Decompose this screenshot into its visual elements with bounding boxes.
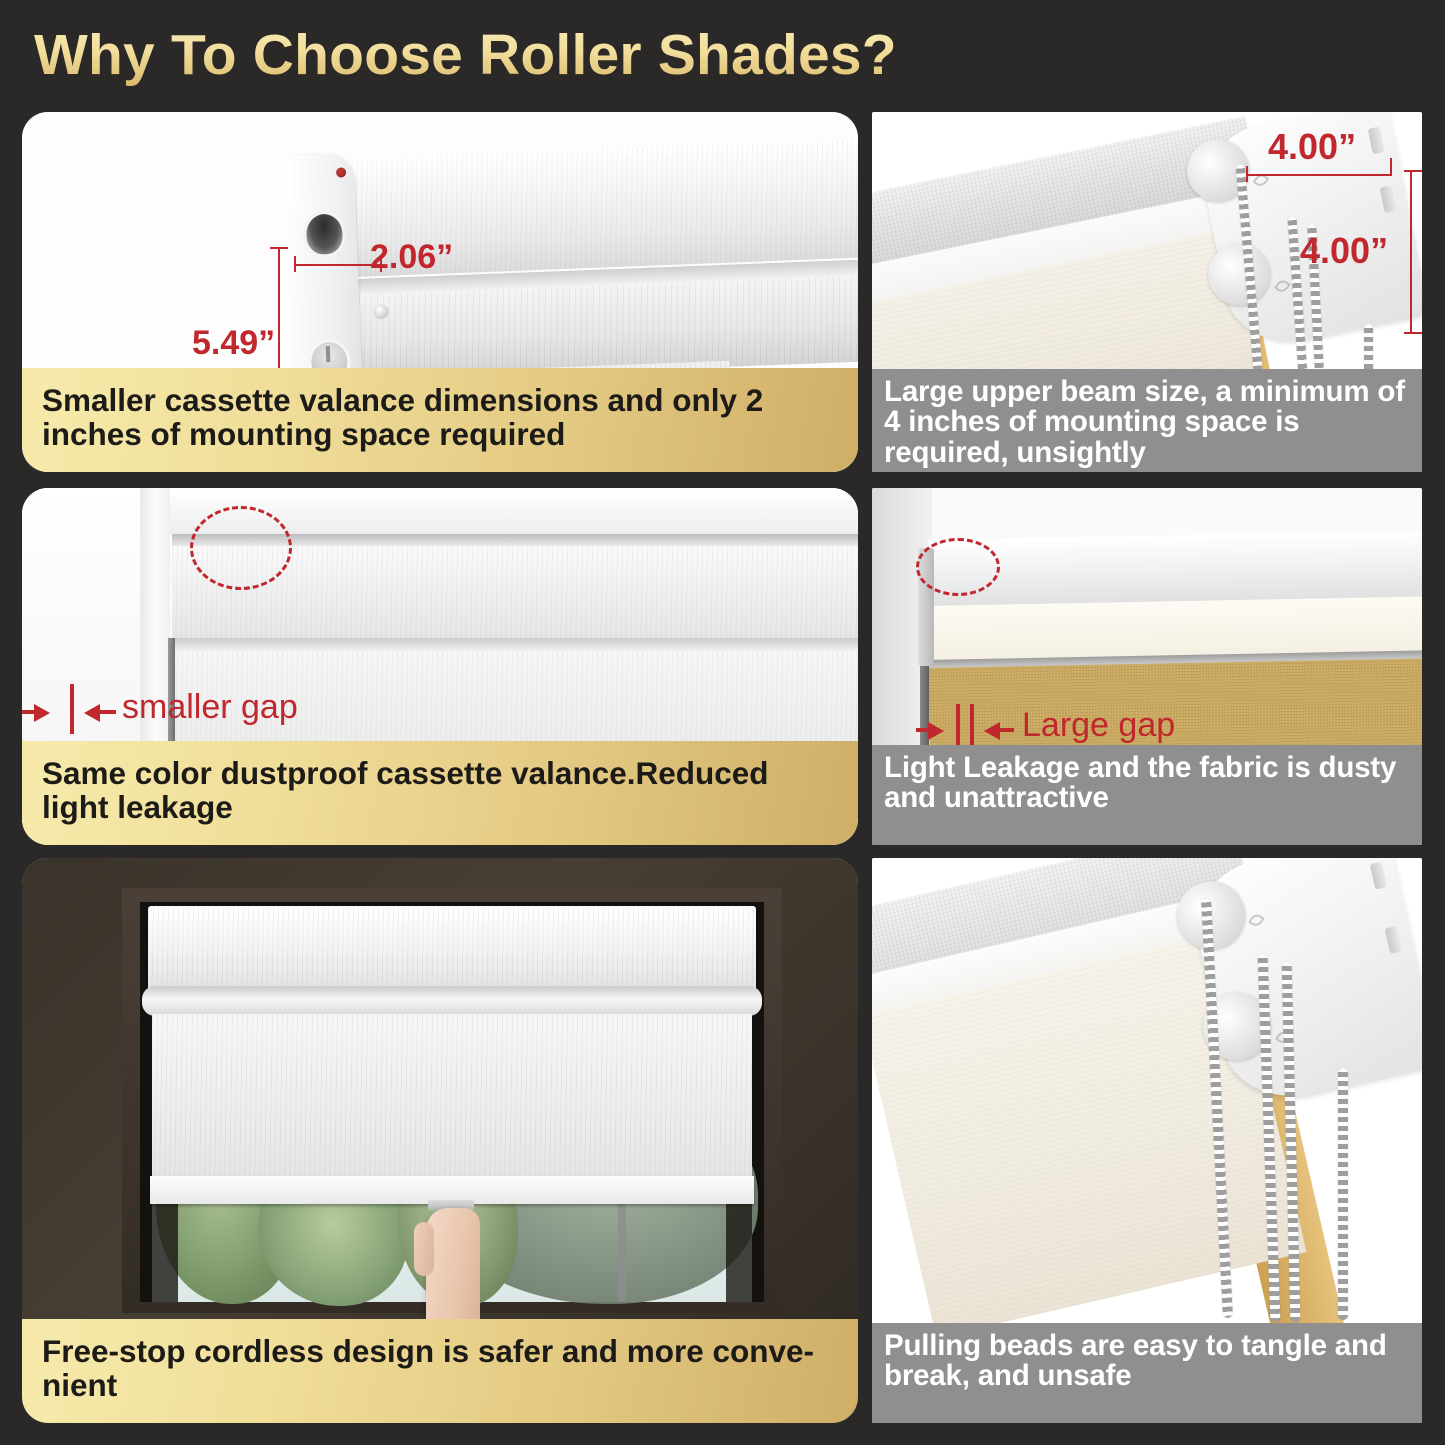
dimension-width-label: 4.00” (1268, 126, 1356, 168)
panel-pro-dustproof-valance: smaller gap Same color dustproof cassett… (22, 488, 858, 845)
cassette-valance (148, 906, 756, 992)
hand-thumb (414, 1222, 434, 1276)
panel-con-large-upper-beam: 4.00” 4.00” Large upper beam size, a min… (872, 112, 1422, 472)
caption-con-large-upper-beam: Large upper beam size, a minimum of 4 in… (872, 369, 1422, 472)
dashed-circle-icon (916, 538, 1000, 596)
roller-socket-icon (306, 213, 344, 254)
panel-con-pulling-beads: Pulling beads are easy to tangle and bre… (872, 858, 1422, 1423)
caption-text: Light Leakage and the fabric is dusty an… (884, 751, 1396, 814)
caption-text: Large upper beam size, a minimum of 4 in… (884, 375, 1405, 469)
caption-pro-free-stop-cordless: Free-stop cordless design is safer and m… (22, 1319, 858, 1423)
caption-text: Smaller cassette valance dimensions and … (42, 382, 763, 452)
caption-pro-dustproof-valance: Same color dustproof cassette valance.Re… (22, 741, 858, 845)
panel-pro-cassette-dimensions: 2.06” 5.49” Smaller cassette valance dim… (22, 112, 858, 472)
caption-pro-cassette-dimensions: Smaller cassette valance dimensions and … (22, 368, 858, 472)
dimension-height-label: 5.49” (192, 324, 275, 363)
infographic-root: Why To Choose Roller Shades? (0, 0, 1445, 1445)
caption-text: Free-stop cordless design is safer and m… (42, 1333, 814, 1403)
shade-fabric (152, 1014, 752, 1188)
gap-callout-label: smaller gap (122, 688, 298, 727)
roller-tube (142, 986, 762, 1016)
dashed-circle-icon (190, 506, 292, 590)
bead-chain (1338, 1068, 1348, 1320)
caption-text: Pulling beads are easy to tangle and bre… (884, 1329, 1387, 1392)
panel-pro-free-stop-cordless: Free-stop cordless design is safer and m… (22, 858, 858, 1423)
caption-con-pulling-beads: Pulling beads are easy to tangle and bre… (872, 1323, 1422, 1423)
panel-con-light-leakage: Large gap Light Leakage and the fabric i… (872, 488, 1422, 845)
caption-text: Same color dustproof cassette valance.Re… (42, 755, 769, 825)
dimension-width-label: 2.06” (370, 238, 453, 277)
page-title: Why To Choose Roller Shades? (34, 22, 897, 88)
gap-callout-label: Large gap (1022, 706, 1175, 745)
caption-con-light-leakage: Light Leakage and the fabric is dusty an… (872, 745, 1422, 845)
dimension-height-label: 4.00” (1300, 230, 1388, 272)
